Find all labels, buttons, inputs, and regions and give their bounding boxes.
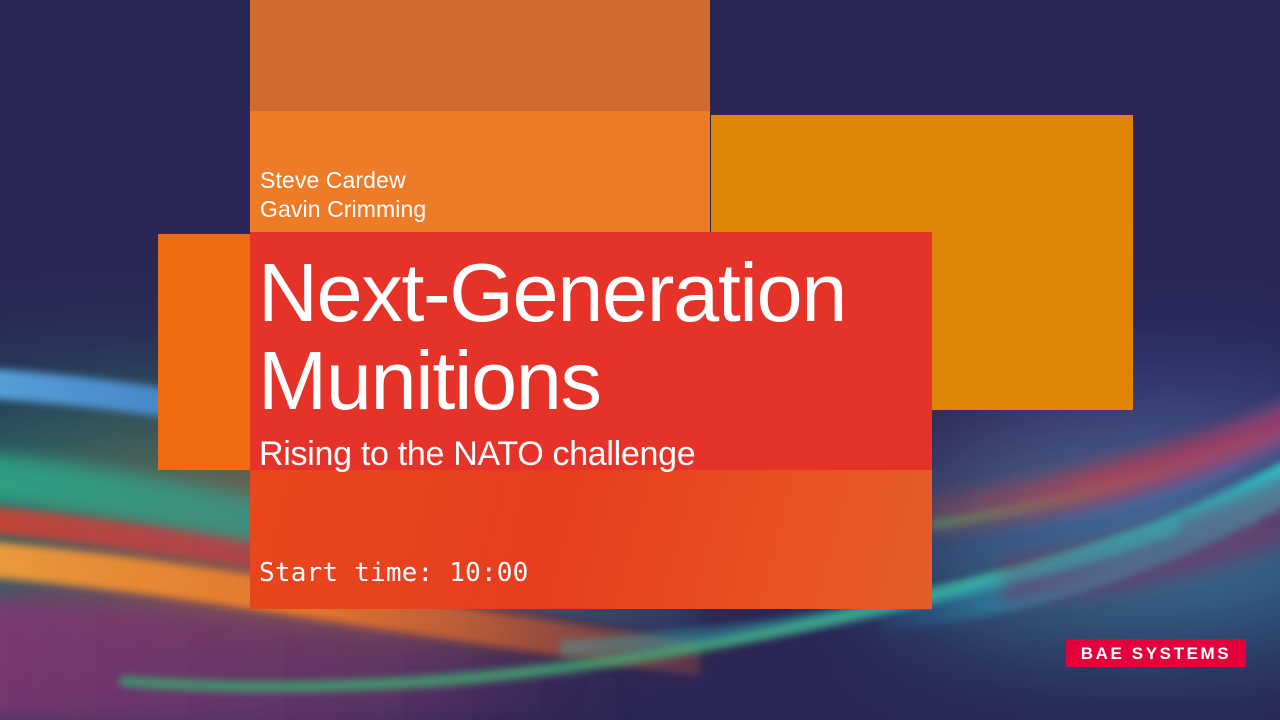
- presenter-names: Steve Cardew Gavin Crimming: [260, 166, 690, 224]
- presenter-name-1: Steve Cardew: [260, 166, 690, 195]
- slide-title: Next-Generation Munitions: [258, 249, 918, 425]
- background-glow-red: [900, 450, 1280, 580]
- slide-title-line-1: Next-Generation: [258, 249, 918, 337]
- start-time-label: Start time: 10:00: [259, 557, 529, 589]
- bae-systems-logo: BAE SYSTEMS: [1066, 639, 1246, 667]
- panel-top-orange: [250, 0, 710, 111]
- presentation-slide: Steve Cardew Gavin Crimming Next-Generat…: [0, 0, 1280, 720]
- presenter-name-2: Gavin Crimming: [260, 195, 690, 224]
- bae-systems-logo-text: BAE SYSTEMS: [1081, 645, 1231, 662]
- background-glow-cyan: [880, 470, 1280, 630]
- slide-title-line-2: Munitions: [258, 337, 918, 425]
- slide-subtitle: Rising to the NATO challenge: [259, 433, 919, 475]
- panel-left-orange: [158, 234, 250, 470]
